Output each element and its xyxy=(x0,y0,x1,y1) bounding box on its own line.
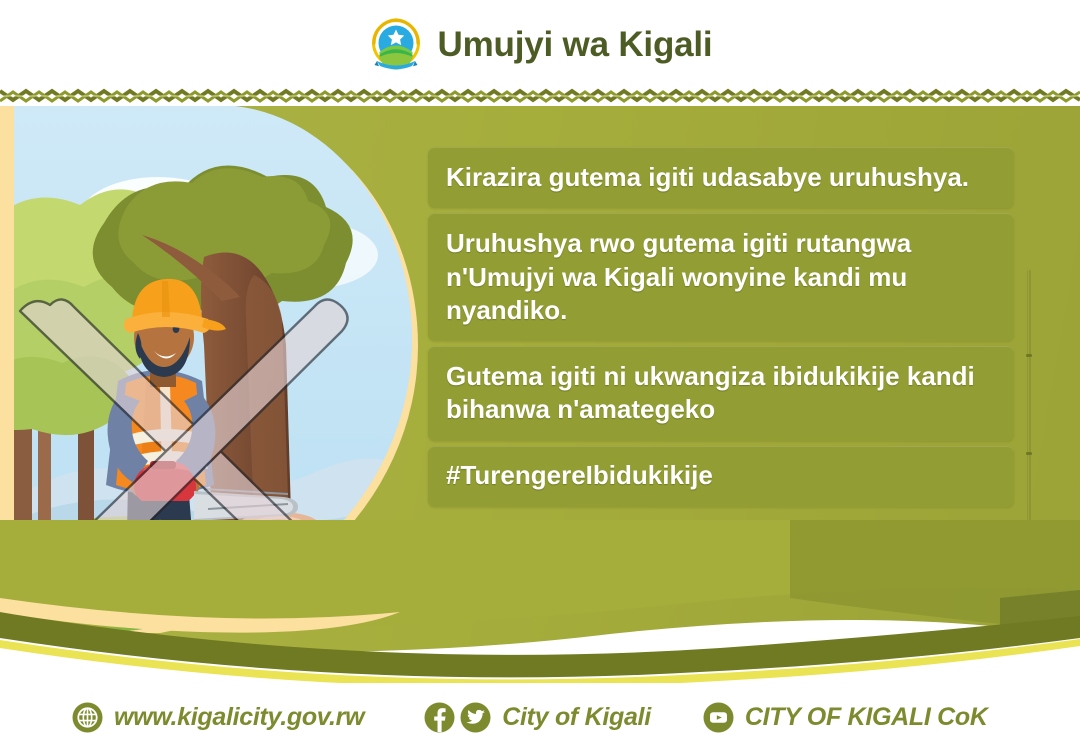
page-title: Umujyi wa Kigali xyxy=(438,27,713,62)
bamboo-divider-icon xyxy=(1026,270,1032,640)
twitter-icon[interactable] xyxy=(460,702,491,733)
illustration-area xyxy=(0,105,420,633)
footer-website[interactable]: www.kigalicity.gov.rw xyxy=(72,702,364,733)
left-accent-strip xyxy=(0,105,14,635)
message-panel-hashtag: #TurengereIbidukikije xyxy=(428,446,1014,507)
footer-youtube[interactable]: CITY OF KIGALI CoK xyxy=(703,702,988,733)
poster-body: Kirazira gutema igiti udasabye uruhushya… xyxy=(0,105,1080,683)
message-panel-3: Gutema igiti ni ukwangiza ibidukikije ka… xyxy=(428,346,1014,441)
header: Umujyi wa Kigali xyxy=(0,0,1080,88)
youtube-icon[interactable] xyxy=(703,702,734,733)
message-panel-1: Kirazira gutema igiti udasabye uruhushya… xyxy=(428,147,1014,208)
footer-website-text: www.kigalicity.gov.rw xyxy=(114,703,364,732)
message-panel-list: Kirazira gutema igiti udasabye uruhushya… xyxy=(428,147,1014,583)
footer-social[interactable]: City of Kigali xyxy=(424,702,651,733)
globe-icon xyxy=(72,702,103,733)
kigali-city-crest-icon xyxy=(368,16,424,72)
footer: www.kigalicity.gov.rw City of Kigali xyxy=(0,683,1080,752)
contact-cta-banner: Mwaduha amakuru kuri: 3260 xyxy=(428,521,1014,583)
man-cutting-tree-with-chainsaw-illustration xyxy=(8,105,412,633)
imigongo-zigzag-border xyxy=(0,88,1080,106)
footer-social-icons xyxy=(424,702,491,733)
cta-label: Mwaduha amakuru kuri: xyxy=(505,534,860,569)
poster-root: Umujyi wa Kigali xyxy=(0,0,1080,752)
facebook-icon[interactable] xyxy=(424,702,455,733)
cta-phone-number: 3260 xyxy=(868,534,937,569)
message-panel-2: Uruhushya rwo gutema igiti rutangwa n'Um… xyxy=(428,213,1014,341)
footer-social-text: City of Kigali xyxy=(502,703,651,732)
footer-youtube-text: CITY OF KIGALI CoK xyxy=(745,703,988,732)
